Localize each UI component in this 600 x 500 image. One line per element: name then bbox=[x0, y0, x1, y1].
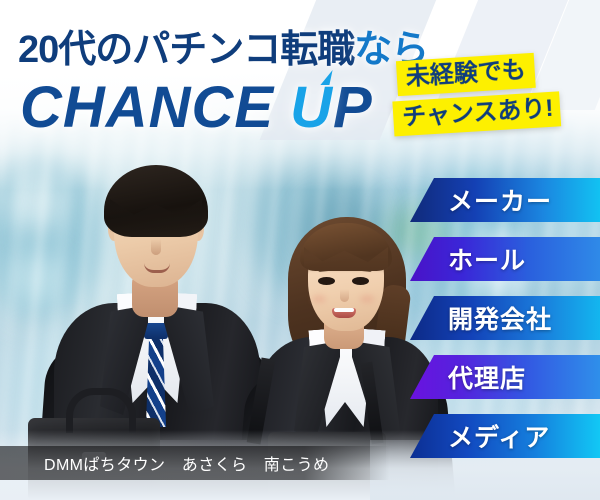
category-label: メーカー bbox=[448, 182, 552, 218]
logo-letter-u: U bbox=[290, 74, 333, 141]
man-hair bbox=[104, 165, 208, 237]
category-label: メディア bbox=[448, 418, 550, 454]
category-item-developer[interactable]: 開発会社 bbox=[410, 296, 600, 340]
man-nose bbox=[151, 239, 161, 255]
category-item-maker[interactable]: メーカー bbox=[410, 178, 600, 222]
woman-cheek-left bbox=[312, 295, 326, 303]
category-item-agency[interactable]: 代理店 bbox=[410, 355, 600, 399]
woman-cheek-right bbox=[360, 295, 374, 303]
category-label: 開発会社 bbox=[448, 300, 552, 336]
category-item-hall[interactable]: ホール bbox=[410, 237, 600, 281]
badge-line-1: 未経験でも bbox=[396, 53, 536, 96]
woman-eye-left bbox=[318, 277, 335, 285]
woman-eye-right bbox=[352, 277, 369, 285]
logo-letter-p: P bbox=[333, 75, 373, 140]
logo-word-chance: CHANCE bbox=[20, 75, 274, 140]
woman-teeth bbox=[334, 308, 354, 312]
category-label: ホール bbox=[448, 241, 526, 277]
headline: 20代のパチンコ転職なら bbox=[18, 18, 428, 73]
category-label: 代理店 bbox=[448, 359, 526, 395]
category-list: メーカー ホール 開発会社 代理店 メディア bbox=[410, 178, 600, 473]
briefcase-handle bbox=[66, 388, 136, 433]
category-item-media[interactable]: メディア bbox=[410, 414, 600, 458]
ad-banner[interactable]: 20代のパチンコ転職なら CHANCEUP 未経験でも チャンスあり! メーカー… bbox=[0, 0, 600, 500]
caption-text: DMMぱちタウン あさくら 南こうめ bbox=[0, 451, 329, 475]
woman-nose bbox=[340, 289, 349, 302]
man-necktie-knot bbox=[144, 323, 168, 339]
caption-bar: DMMぱちタウン あさくら 南こうめ bbox=[0, 446, 390, 480]
logo-chance-up: CHANCEUP bbox=[20, 74, 373, 141]
badge-unexperienced: 未経験でも チャンスあり! bbox=[396, 49, 600, 136]
headline-main: 20代のパチンコ転職 bbox=[18, 29, 354, 71]
